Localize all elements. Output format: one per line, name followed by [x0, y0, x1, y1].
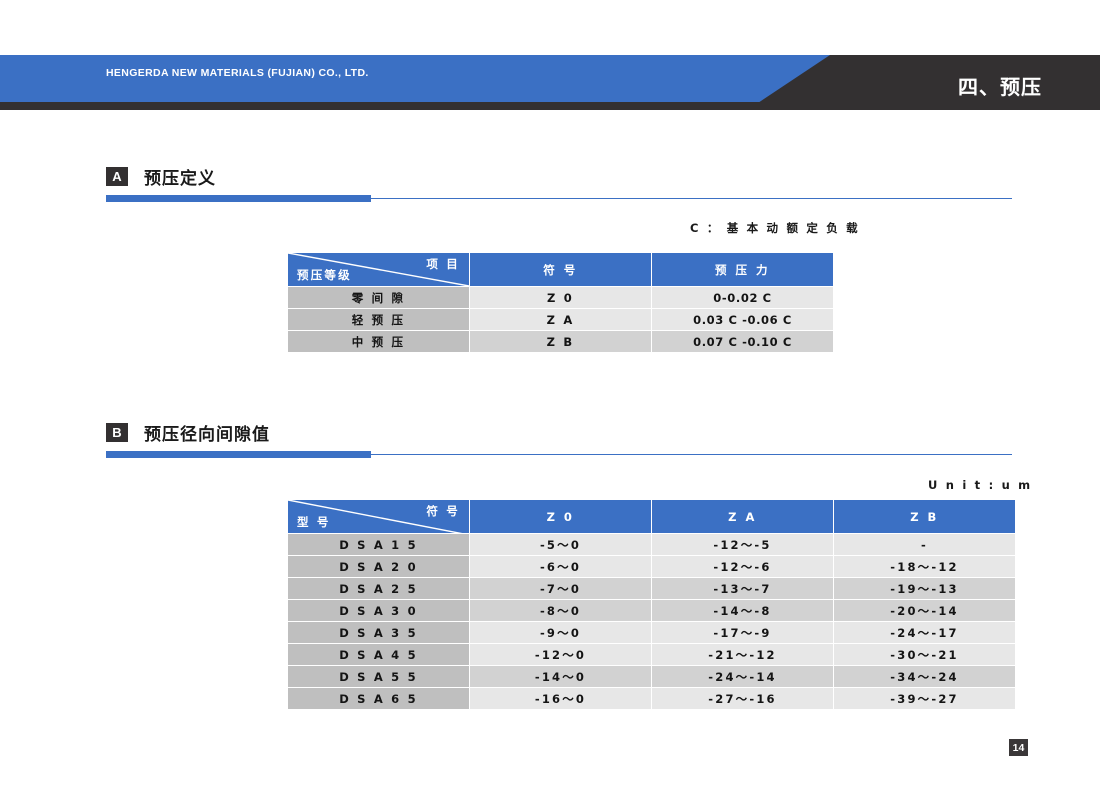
cell-za: -17～-9: [652, 622, 833, 643]
chapter-title: 四、预压: [958, 71, 1042, 100]
table-a-caption: C ： 基 本 动 额 定 负 载: [690, 220, 860, 236]
section-a: A 预压定义: [106, 164, 1012, 202]
rule-thin-line: [371, 198, 1012, 199]
table-a-header-row: 项 目 预压等级 符 号 预 压 力: [288, 253, 833, 286]
table-b-col-z0: Z 0: [470, 500, 651, 533]
cell-zb: -18～-12: [834, 556, 1015, 577]
corner-bottom-left-label: 预压等级: [297, 267, 352, 283]
corner-top-right-label: 项 目: [426, 256, 460, 272]
cell-za: -21～-12: [652, 644, 833, 665]
section-a-rule: [106, 195, 1012, 202]
table-a-corner-cell: 项 目 预压等级: [288, 253, 469, 286]
cell-grade: 中 预 压: [288, 331, 469, 352]
section-a-heading: A 预压定义: [106, 164, 1012, 188]
cell-model: D S A 2 5: [288, 578, 469, 599]
table-b-corner-cell: 符 号 型 号: [288, 500, 469, 533]
rule-thick-bar: [106, 195, 371, 202]
corner-bottom-left-label: 型 号: [297, 514, 331, 530]
cell-model: D S A 3 5: [288, 622, 469, 643]
table-row: 轻 预 压 Z A 0.03 C -0.06 C: [288, 309, 833, 330]
cell-grade: 轻 预 压: [288, 309, 469, 330]
cell-za: -12～-6: [652, 556, 833, 577]
cell-z0: -9～0: [470, 622, 651, 643]
cell-force: 0-0.02 C: [652, 287, 833, 308]
cell-za: -24～-14: [652, 666, 833, 687]
table-row: D S A 2 0 -6～0 -12～-6 -18～-12: [288, 556, 1015, 577]
table-a-col-symbol: 符 号: [470, 253, 651, 286]
cell-symbol: Z 0: [470, 287, 651, 308]
section-b-heading: B 预压径向间隙值: [106, 420, 1012, 444]
table-row: D S A 3 0 -8～0 -14～-8 -20～-14: [288, 600, 1015, 621]
cell-model: D S A 3 0: [288, 600, 469, 621]
section-b-title: 预压径向间隙值: [144, 420, 270, 445]
cell-z0: -16～0: [470, 688, 651, 709]
table-row: D S A 5 5 -14～0 -24～-14 -34～-24: [288, 666, 1015, 687]
rule-thin-line: [371, 454, 1012, 455]
table-a-col-force: 预 压 力: [652, 253, 833, 286]
cell-z0: -14～0: [470, 666, 651, 687]
rule-thick-bar: [106, 451, 371, 458]
cell-zb: -39～-27: [834, 688, 1015, 709]
table-row: 中 预 压 Z B 0.07 C -0.10 C: [288, 331, 833, 352]
cell-model: D S A 5 5: [288, 666, 469, 687]
section-a-badge: A: [106, 167, 128, 186]
table-b-col-za: Z A: [652, 500, 833, 533]
cell-za: -13～-7: [652, 578, 833, 599]
cell-symbol: Z B: [470, 331, 651, 352]
cell-model: D S A 2 0: [288, 556, 469, 577]
cell-za: -14～-8: [652, 600, 833, 621]
cell-z0: -6～0: [470, 556, 651, 577]
table-b-col-zb: Z B: [834, 500, 1015, 533]
cell-symbol: Z A: [470, 309, 651, 330]
cell-zb: -: [834, 534, 1015, 555]
cell-z0: -7～0: [470, 578, 651, 599]
cell-zb: -20～-14: [834, 600, 1015, 621]
cell-zb: -30～-21: [834, 644, 1015, 665]
table-row: D S A 6 5 -16～0 -27～-16 -39～-27: [288, 688, 1015, 709]
cell-z0: -8～0: [470, 600, 651, 621]
cell-model: D S A 6 5: [288, 688, 469, 709]
company-name: HENGERDA NEW MATERIALS (FUJIAN) CO., LTD…: [106, 67, 369, 79]
table-b-unit-caption: U n i t : u m: [928, 478, 1032, 492]
table-b-header-row: 符 号 型 号 Z 0 Z A Z B: [288, 500, 1015, 533]
cell-zb: -24～-17: [834, 622, 1015, 643]
table-row: D S A 1 5 -5～0 -12～-5 -: [288, 534, 1015, 555]
corner-top-right-label: 符 号: [426, 503, 460, 519]
cell-model: D S A 1 5: [288, 534, 469, 555]
table-row: 零 间 隙 Z 0 0-0.02 C: [288, 287, 833, 308]
section-b-badge: B: [106, 423, 128, 442]
section-a-title: 预压定义: [144, 164, 216, 189]
cell-zb: -19～-13: [834, 578, 1015, 599]
page-number: 14: [1009, 739, 1028, 756]
cell-za: -12～-5: [652, 534, 833, 555]
preload-definition-table: 项 目 预压等级 符 号 预 压 力 零 间 隙 Z 0 0-0.02 C 轻 …: [287, 252, 834, 353]
section-b-rule: [106, 451, 1012, 458]
cell-grade: 零 间 隙: [288, 287, 469, 308]
cell-za: -27～-16: [652, 688, 833, 709]
radial-clearance-table: 符 号 型 号 Z 0 Z A Z B D S A 1 5 -5～0 -12～-…: [287, 499, 1016, 710]
table-row: D S A 2 5 -7～0 -13～-7 -19～-13: [288, 578, 1015, 599]
section-b: B 预压径向间隙值: [106, 420, 1012, 458]
cell-zb: -34～-24: [834, 666, 1015, 687]
cell-force: 0.07 C -0.10 C: [652, 331, 833, 352]
page-header-band: HENGERDA NEW MATERIALS (FUJIAN) CO., LTD…: [0, 55, 1100, 110]
cell-model: D S A 4 5: [288, 644, 469, 665]
table-row: D S A 4 5 -12～0 -21～-12 -30～-21: [288, 644, 1015, 665]
cell-force: 0.03 C -0.06 C: [652, 309, 833, 330]
table-row: D S A 3 5 -9～0 -17～-9 -24～-17: [288, 622, 1015, 643]
cell-z0: -12～0: [470, 644, 651, 665]
cell-z0: -5～0: [470, 534, 651, 555]
